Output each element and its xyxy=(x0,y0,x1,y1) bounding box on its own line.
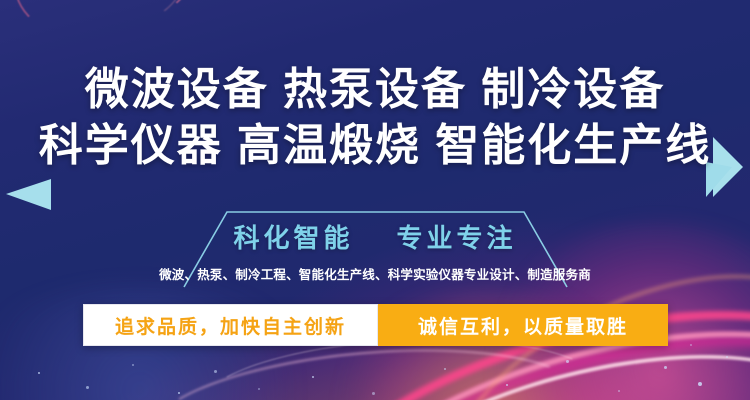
subtitle-right: 专业专注 xyxy=(396,218,516,255)
slogan-bar-left: 追求品质，加快自主创新 xyxy=(83,304,378,346)
slogan-bar-group: 追求品质，加快自主创新 诚信互利，以质量取胜 xyxy=(83,304,668,346)
headline-line-2: 科学仪器 高温煅烧 智能化生产线 xyxy=(0,118,750,174)
left-triangle-icon xyxy=(6,179,51,210)
tagline-text: 微波、热泵、制冷工程、智能化生产线、科学实验仪器专业设计、制造服务商 xyxy=(0,264,750,283)
slogan-bar-right: 诚信互利，以质量取胜 xyxy=(378,304,668,346)
headline-line-1: 微波设备 热泵设备 制冷设备 xyxy=(0,62,750,118)
subtitle-left: 科化智能 xyxy=(234,218,354,255)
subtitle-row: 科化智能 专业专注 xyxy=(0,218,750,255)
headline-block: 微波设备 热泵设备 制冷设备 科学仪器 高温煅烧 智能化生产线 xyxy=(0,62,750,174)
slogan-right-text: 诚信互利，以质量取胜 xyxy=(418,312,628,339)
promo-banner: 微波设备 热泵设备 制冷设备 科学仪器 高温煅烧 智能化生产线 科化智能 专业专… xyxy=(0,0,750,400)
slogan-left-text: 追求品质，加快自主创新 xyxy=(115,312,346,339)
